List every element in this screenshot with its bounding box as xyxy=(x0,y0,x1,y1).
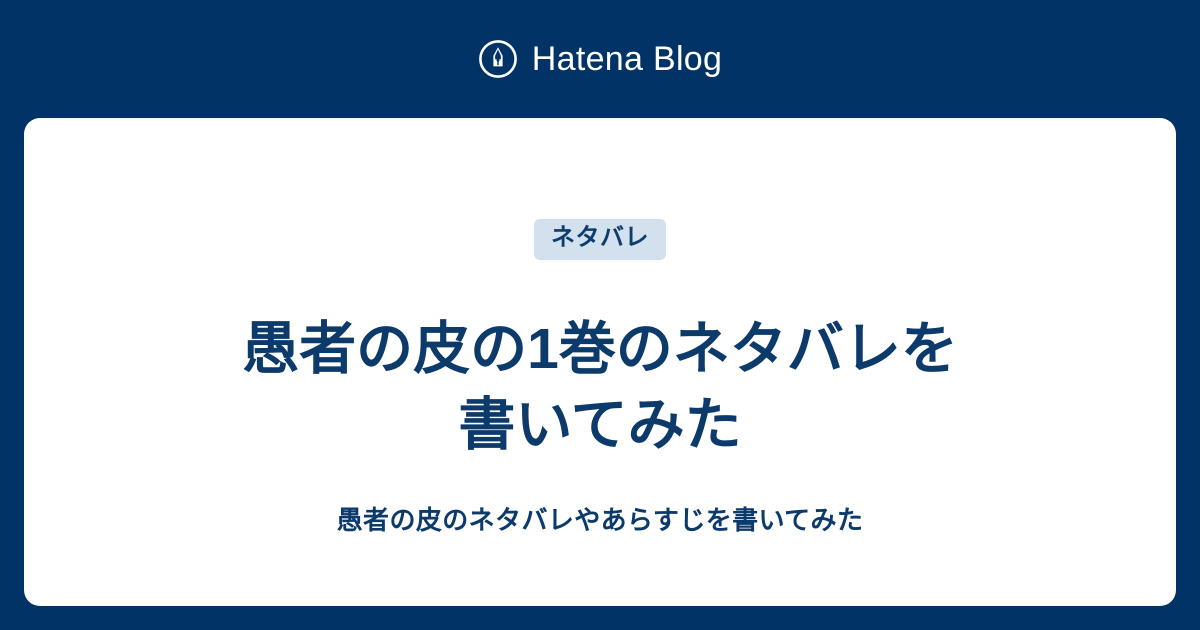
entry-title: 愚者の皮の1巻のネタバレを 書いてみた xyxy=(24,311,1176,463)
entry-title-line-2: 書いてみた xyxy=(84,387,1116,463)
brand-name-label: Hatena Blog xyxy=(532,39,722,79)
fountain-pen-nib-circle-icon xyxy=(478,39,518,79)
hatena-blog-brand[interactable]: Hatena Blog xyxy=(0,0,1200,118)
entry-title-line-1: 愚者の皮の1巻のネタバレを xyxy=(84,311,1116,387)
og-image-root: Hatena Blog ネタバレ 愚者の皮の1巻のネタバレを 書いてみた 愚者の… xyxy=(0,0,1200,630)
blog-subtitle: 愚者の皮のネタバレやあらすじを書いてみた xyxy=(24,502,1176,538)
entry-card-inner: ネタバレ 愚者の皮の1巻のネタバレを 書いてみた 愚者の皮のネタバレやあらすじを… xyxy=(24,118,1176,606)
entry-card: ネタバレ 愚者の皮の1巻のネタバレを 書いてみた 愚者の皮のネタバレやあらすじを… xyxy=(24,118,1176,606)
category-badge[interactable]: ネタバレ xyxy=(534,219,666,260)
category-badge-row: ネタバレ xyxy=(24,219,1176,260)
